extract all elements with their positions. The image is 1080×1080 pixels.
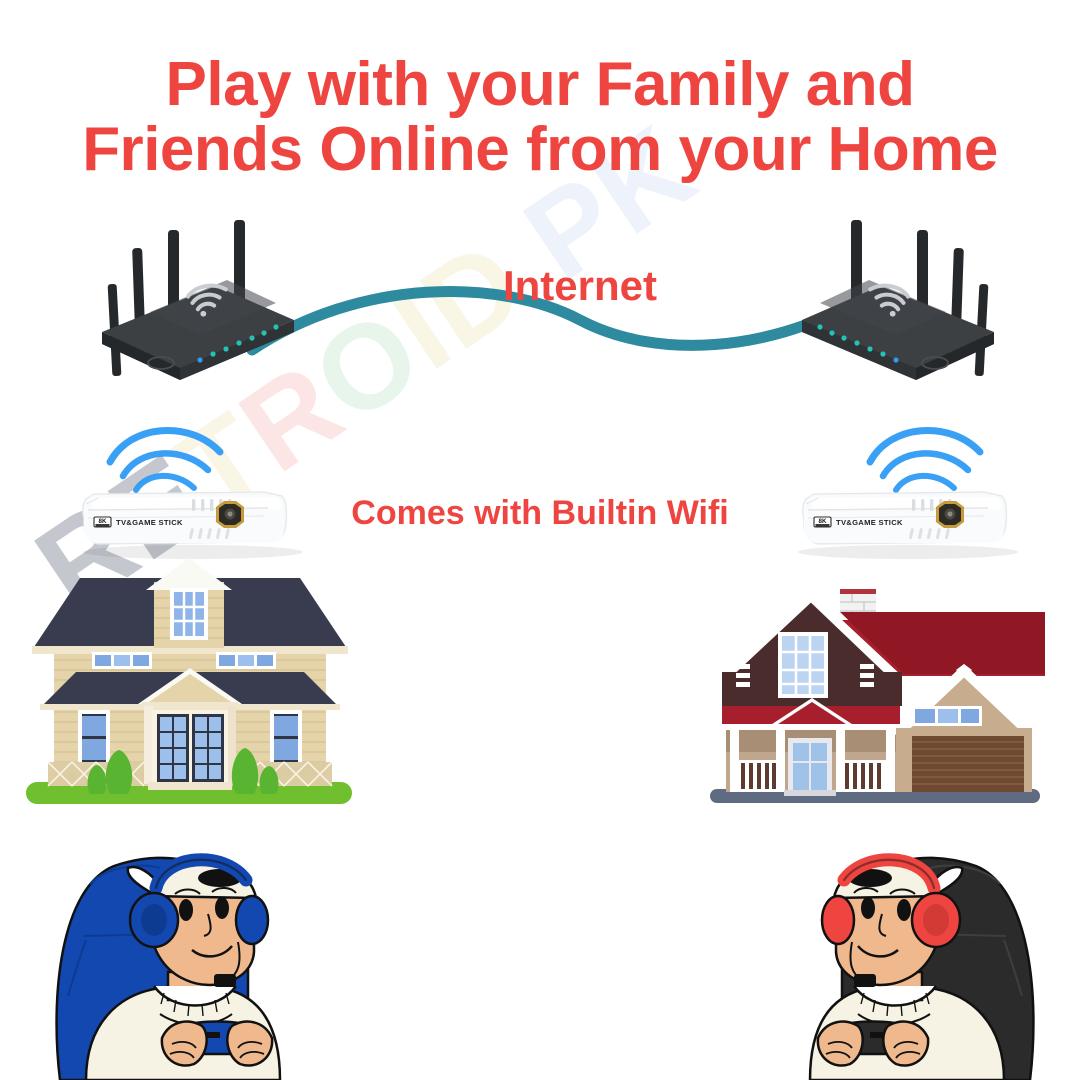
front-door [148, 710, 232, 790]
infographic-canvas: RETROID PK Play with your Family and Fri… [0, 0, 1080, 1080]
stick-label-text: TV&GAME STICK [116, 518, 183, 527]
router-right [778, 212, 1008, 397]
gable-window [778, 632, 828, 698]
house-left [18, 560, 363, 810]
game-stick-right: 8K TV&GAME STICK [778, 400, 1038, 565]
mic [854, 974, 876, 987]
right-hand [227, 1022, 272, 1066]
stick-label-text: TV&GAME STICK [836, 518, 903, 527]
builtin-wifi-text: Comes with Builtin Wifi [351, 494, 728, 532]
chip-emblem [936, 501, 964, 528]
wifi-signal-icon [110, 430, 220, 501]
internet-label-text: Internet [503, 262, 657, 309]
gamer-right [748, 828, 1048, 1080]
house-right [700, 580, 1050, 812]
internet-label: Internet [400, 262, 760, 310]
front-door-right [784, 738, 836, 796]
page-title: Play with your Family and Friends Online… [0, 52, 1080, 182]
left-hand [162, 1022, 207, 1066]
game-stick-left: 8K TV&GAME STICK [68, 400, 328, 565]
stick-brand-label: 8K TV&GAME STICK [94, 517, 183, 527]
builtin-wifi-label: Comes with Builtin Wifi [280, 494, 800, 533]
title-line-1: Play with your Family and [0, 52, 1080, 117]
right-hand [818, 1022, 863, 1066]
garage [892, 664, 1036, 792]
title-line-2: Friends Online from your Home [0, 117, 1080, 182]
mic [214, 974, 236, 987]
stick-brand-label: 8K TV&GAME STICK [814, 517, 903, 527]
dormer [146, 558, 232, 648]
wifi-signal-icon [870, 430, 980, 501]
chip-emblem [216, 501, 244, 528]
gamer-left [42, 828, 342, 1080]
left-hand [883, 1022, 928, 1066]
router-left [88, 212, 318, 397]
